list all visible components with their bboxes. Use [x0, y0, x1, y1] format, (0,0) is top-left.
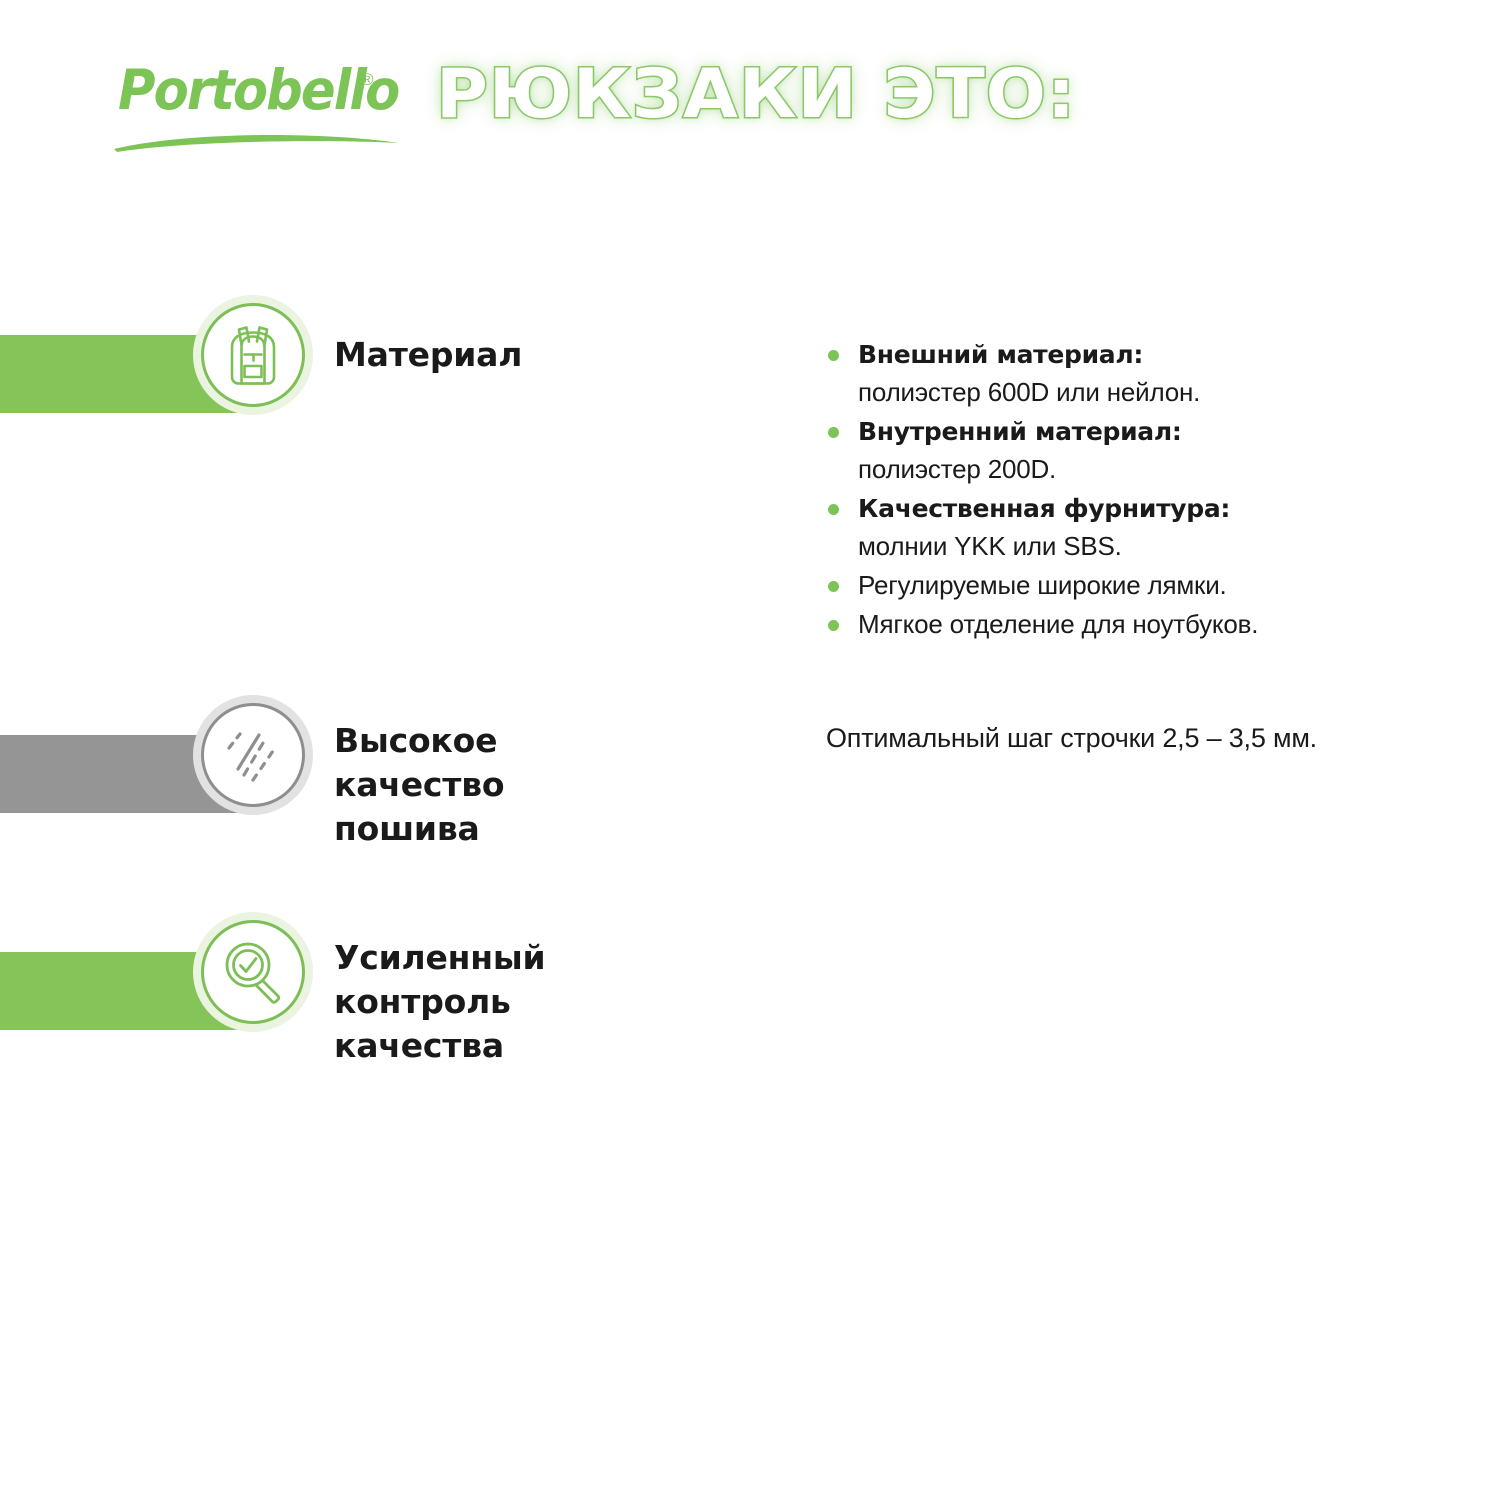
bullet-value: Мягкое отделение для ноутбуков. — [858, 606, 1446, 643]
list-item: Качественная фурнитура: молнии YKK или S… — [826, 490, 1446, 565]
row-title-material: Материал — [334, 333, 522, 377]
brand-logo: Portobello ® — [118, 58, 408, 148]
bullet-dot-icon — [828, 581, 839, 592]
bullet-dot-icon — [828, 504, 839, 515]
brand-swoosh-icon — [114, 130, 399, 152]
bullet-dot-icon — [828, 620, 839, 631]
bullet-value: полиэстер 200D. — [858, 450, 1446, 488]
list-item: Регулируемые широкие лямки. — [826, 567, 1446, 604]
bullet-dot-icon — [828, 350, 839, 361]
poster-canvas: Portobello ® РЮКЗАКИ ЭТО: — [0, 0, 1500, 1500]
brand-wordmark: Portobello — [118, 58, 398, 122]
page-title: РЮКЗАКИ ЭТО: — [436, 52, 1052, 138]
row-title-sewing: Высокое качество пошива — [334, 719, 504, 851]
row-icon-badge — [193, 295, 313, 415]
list-item: Внешний материал: полиэстер 600D или ней… — [826, 336, 1446, 411]
bullet-label: Внешний материал: — [858, 336, 1446, 373]
row-icon-badge — [193, 912, 313, 1032]
registered-trademark-icon: ® — [361, 70, 374, 90]
page-title-text: РЮКЗАКИ ЭТО: — [436, 61, 1076, 129]
row-icon-badge — [193, 695, 313, 815]
list-item: Мягкое отделение для ноутбуков. — [826, 606, 1446, 643]
list-item: Внутренний материал: полиэстер 200D. — [826, 413, 1446, 488]
stitching-icon — [219, 721, 287, 789]
bullet-value: Регулируемые широкие лямки. — [858, 567, 1446, 604]
bullet-value: полиэстер 600D или нейлон. — [858, 373, 1446, 411]
bullet-dot-icon — [828, 427, 839, 438]
row-title-quality-control: Усиленный контроль качества — [334, 936, 545, 1068]
bullet-label: Внутренний материал: — [858, 413, 1446, 450]
sewing-note: Оптимальный шаг строчки 2,5 – 3,5 мм. — [826, 719, 1317, 757]
bullet-label: Качественная фурнитура: — [858, 490, 1446, 527]
material-bullet-list: Внешний материал: полиэстер 600D или ней… — [826, 336, 1446, 645]
magnifier-check-icon — [219, 938, 287, 1006]
bullet-value: молнии YKK или SBS. — [858, 527, 1446, 565]
backpack-icon — [219, 321, 287, 389]
